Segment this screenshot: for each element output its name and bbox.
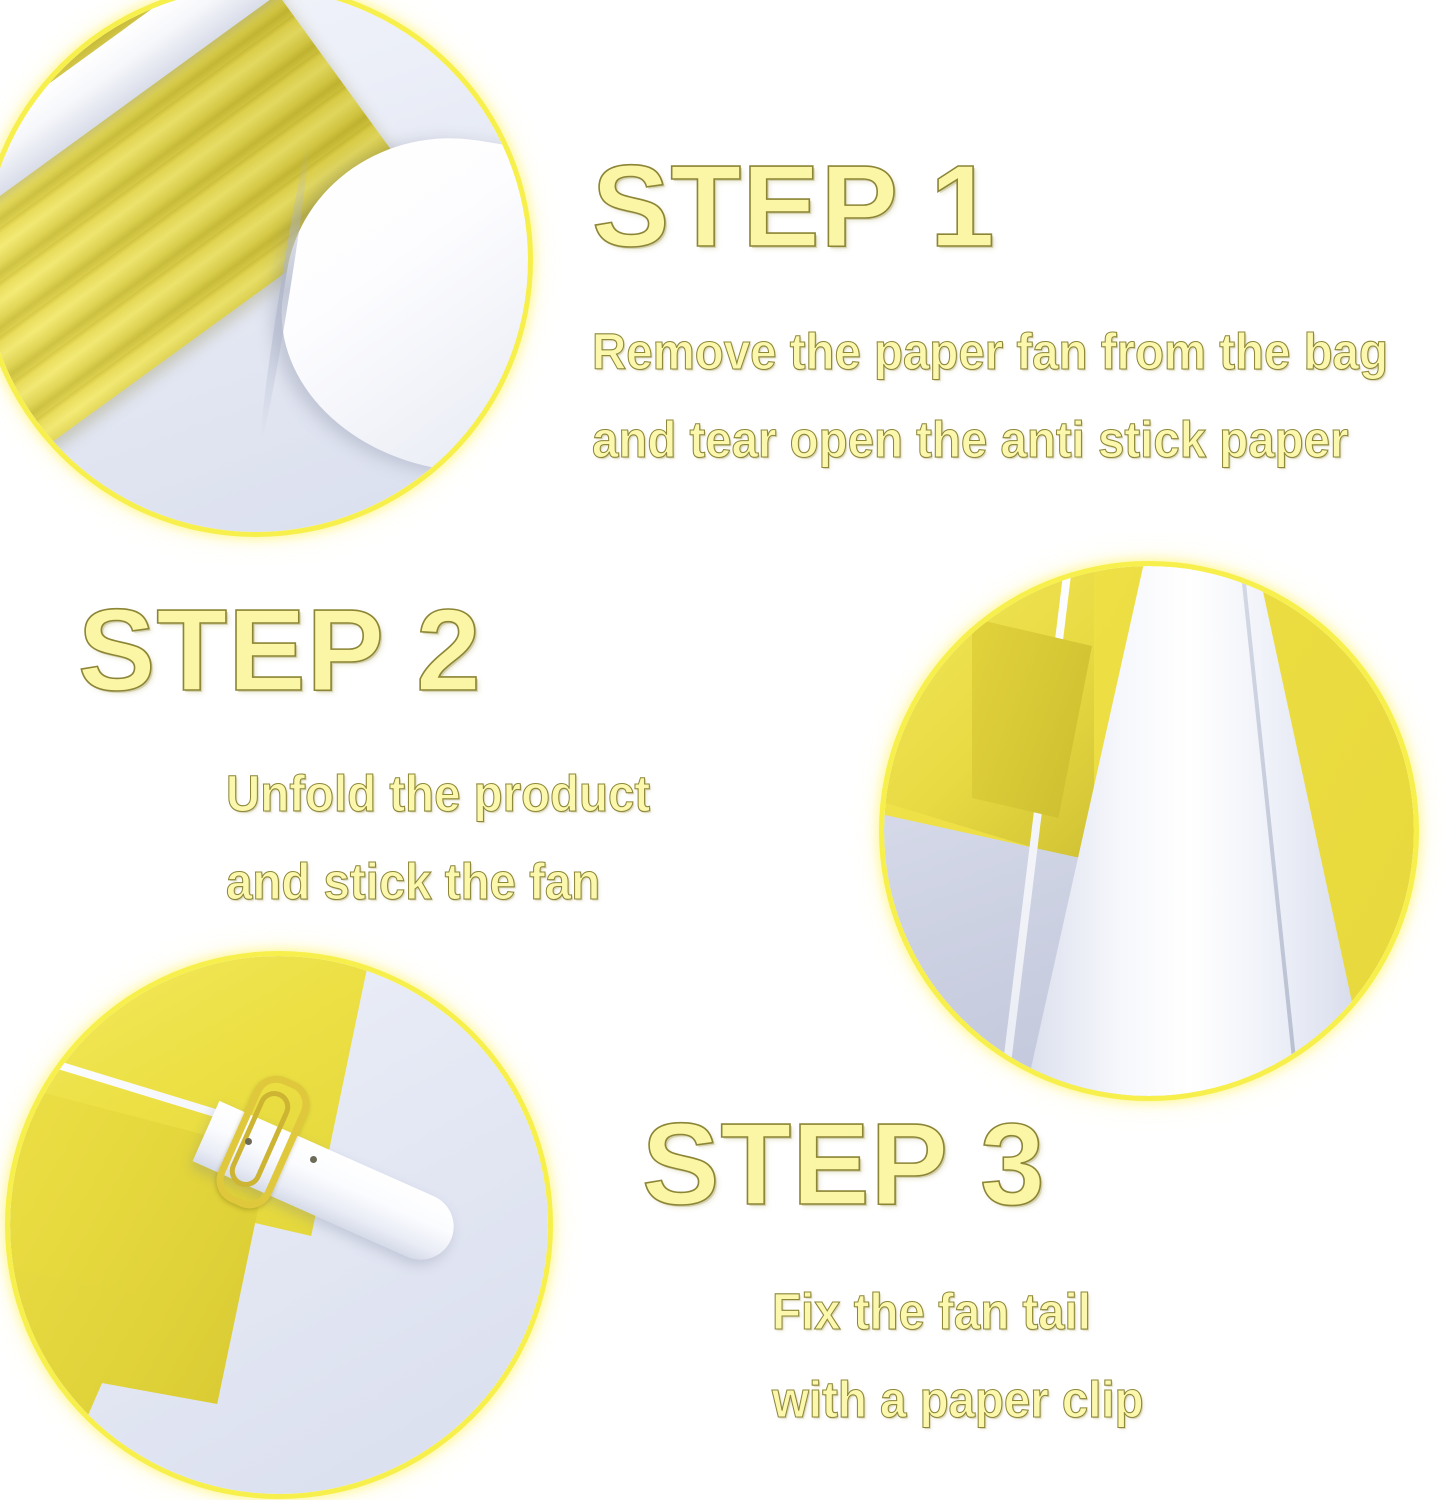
fan-tail-paperclip-photo (10, 956, 548, 1494)
step-3-body: Fix the fan tail with a paper clip (772, 1268, 1144, 1443)
step-1-body: Remove the paper fan from the bag and te… (592, 308, 1388, 483)
step-2-line-2: and stick the fan (226, 838, 650, 926)
fan-tail-hole-left (245, 1138, 252, 1145)
step-1-heading: STEP 1 (592, 148, 996, 264)
step-2-body: Unfold the product and stick the fan (226, 750, 650, 925)
step-2-line-1: Unfold the product (226, 750, 650, 838)
photo-content-step-1 (0, 0, 528, 532)
photo-content-step-3 (10, 956, 548, 1494)
step-2-heading: STEP 2 (78, 592, 482, 708)
fan-tail-hole-right (310, 1156, 317, 1163)
step-3-line-1: Fix the fan tail (772, 1268, 1144, 1356)
instruction-poster: STEP 1 Remove the paper fan from the bag… (0, 0, 1443, 1500)
step-1-line-2: and tear open the anti stick paper (592, 396, 1388, 484)
step-1-line-1: Remove the paper fan from the bag (592, 308, 1388, 396)
step-3-line-2: with a paper clip (772, 1356, 1144, 1444)
step-3-heading: STEP 3 (642, 1106, 1046, 1222)
unfolded-fan-photo (884, 566, 1414, 1096)
folded-fan-antistick-photo (0, 0, 528, 532)
photo-content-step-2 (884, 566, 1414, 1096)
